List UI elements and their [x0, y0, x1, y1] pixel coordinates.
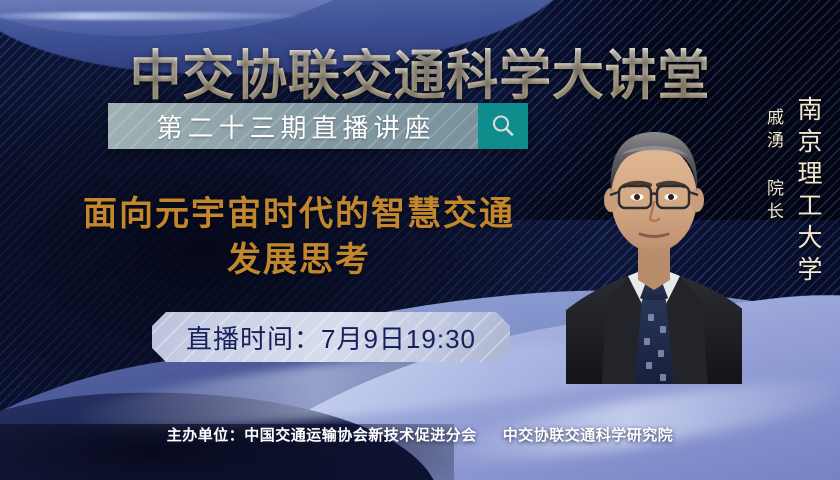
speaker-name-title: 戚湧 院长 [761, 108, 786, 225]
headline-line-2: 发展思考 [34, 238, 564, 284]
episode-label: 第二十三期直播讲座 [150, 108, 435, 145]
episode-banner-body: 第二十三期直播讲座 [108, 103, 478, 149]
speaker-organization: 南京理工大学 [790, 96, 826, 288]
search-icon [490, 113, 516, 139]
lecture-headline: 面向元宇宙时代的智慧交通 发展思考 [34, 192, 564, 283]
headline-line-1: 面向元宇宙时代的智慧交通 [83, 195, 515, 233]
page-title: 中交协联交通科学大讲堂 [17, 48, 823, 105]
organizer-name-2: 中交协联交通科学研究院 [503, 427, 674, 444]
speaker-portrait [566, 92, 742, 384]
organizer-line: 主办单位：中国交通运输协会新技术促进分会中交协联交通科学研究院 [0, 424, 840, 445]
broadcast-time-chip: 直播时间：7月9日19:30 [152, 312, 510, 362]
search-button[interactable] [478, 103, 528, 149]
organizer-prefix: 主办单位： [167, 427, 245, 444]
broadcast-time-label: 直播时间：7月9日19:30 [186, 319, 476, 356]
livestream-poster: 中交协联交通科学大讲堂 第二十三期直播讲座 面向元宇宙时代的智慧交通 发展思考 … [0, 0, 840, 480]
organizer-name-1: 中国交通运输协会新技术促进分会 [244, 427, 477, 444]
episode-banner: 第二十三期直播讲座 [108, 103, 528, 149]
